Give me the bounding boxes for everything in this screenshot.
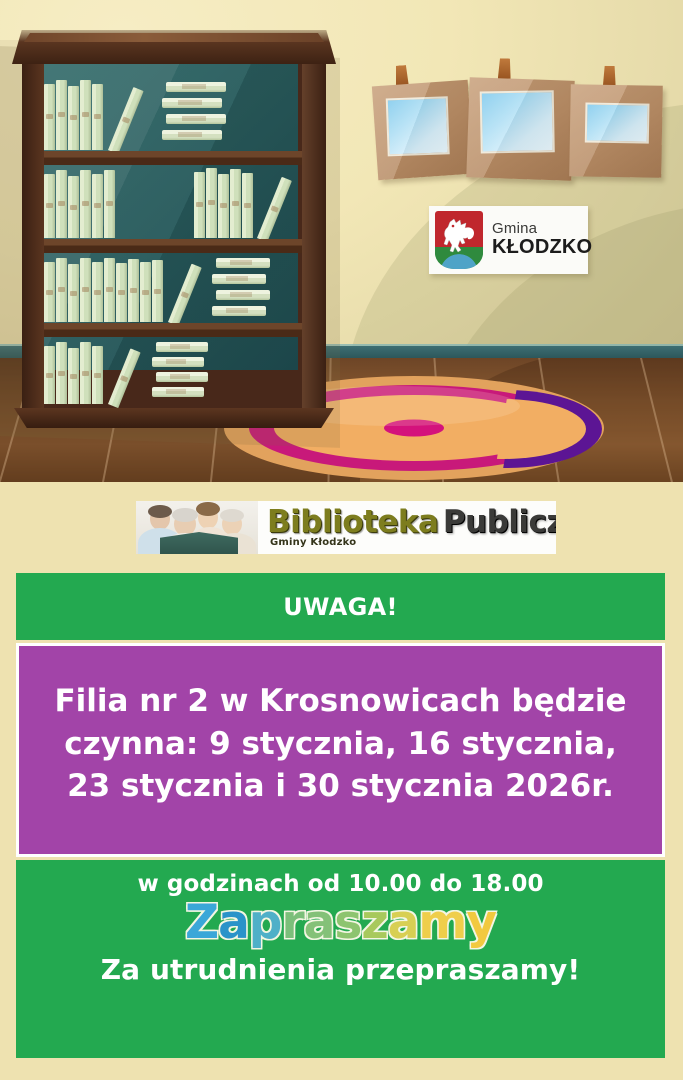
klodzko-label: KŁODZKO	[492, 237, 592, 259]
reader-hair	[220, 509, 244, 522]
book	[56, 80, 67, 150]
notice-heading: UWAGA!	[283, 593, 397, 621]
book	[92, 262, 103, 322]
book-stack	[156, 372, 208, 382]
banner-title-line: Biblioteka Publiczna	[267, 504, 556, 540]
bookcase-crown-highlight	[24, 33, 324, 42]
book	[80, 258, 91, 322]
banner-subtitle: Gminy Kłodzko	[270, 537, 356, 548]
book	[80, 342, 91, 404]
invitation-letter: m	[418, 895, 466, 950]
book	[56, 170, 67, 238]
gmina-klodzko-logo: Gmina KŁODZKO	[429, 206, 588, 274]
notice-area: Biblioteka Publiczna Gminy Kłodzko UWAGA…	[0, 482, 683, 1080]
banner-word-publiczna: Publiczna	[443, 504, 556, 540]
frame-gloss	[466, 77, 574, 181]
book-stack	[166, 114, 226, 124]
book	[44, 346, 55, 404]
klodzko-coat-of-arms	[435, 211, 483, 269]
book	[92, 346, 103, 404]
book-leaning	[108, 348, 141, 408]
bookcase-shelf-row-4	[44, 338, 294, 404]
invitation-letter: p	[249, 895, 282, 950]
frame-gloss	[569, 84, 663, 178]
invitation-letter: r	[281, 895, 303, 950]
book-stack	[212, 274, 266, 284]
book-leaning	[108, 87, 144, 154]
book-stack	[216, 258, 270, 268]
book	[140, 262, 151, 322]
invitation-letter: Z	[185, 895, 218, 950]
apology-text: Za utrudnienia przepraszamy!	[101, 953, 580, 986]
book	[116, 263, 127, 322]
book	[80, 170, 91, 238]
invitation-letter: a	[304, 895, 335, 950]
book	[206, 168, 217, 238]
wall-photo-frame-1	[372, 80, 474, 180]
notice-body-line-1: Filia nr 2 w Krosnowicach będzie	[54, 680, 626, 723]
book	[44, 174, 55, 238]
shelf-highlight	[34, 239, 306, 244]
book-stack	[212, 306, 266, 316]
book	[56, 342, 67, 404]
reader-hair	[196, 502, 220, 516]
bookcase-shelf-row-1	[44, 76, 294, 150]
book-stack	[156, 342, 208, 352]
gmina-label: Gmina	[492, 221, 592, 237]
bookcase-shelf-3	[34, 323, 306, 337]
invitation-word: Zapraszamy	[185, 899, 496, 947]
book	[68, 86, 79, 150]
gmina-text-block: Gmina KŁODZKO	[492, 221, 592, 259]
book	[194, 172, 205, 238]
reader-hair	[148, 505, 172, 518]
book	[80, 80, 91, 150]
reader-hair	[172, 508, 198, 522]
notice-heading-block: UWAGA!	[16, 573, 665, 640]
notice-body-line-3: 23 stycznia i 30 stycznia 2026r.	[67, 765, 614, 808]
bookcase-shelf-1	[34, 151, 306, 165]
bookcase-side-right	[302, 60, 326, 412]
book	[218, 174, 229, 238]
banner-word-biblioteka: Biblioteka	[267, 504, 438, 540]
book	[44, 262, 55, 322]
bookcase-shelf-row-3	[44, 254, 294, 322]
invitation-letter: y	[466, 895, 496, 950]
readers-photo	[136, 501, 258, 554]
book-stack	[162, 130, 222, 140]
notice-body-line-2: czynna: 9 stycznia, 16 stycznia,	[64, 723, 617, 766]
library-banner: Biblioteka Publiczna Gminy Kłodzko	[136, 501, 556, 554]
book	[56, 258, 67, 322]
wall-photo-frame-2	[466, 77, 574, 181]
lion-icon	[441, 216, 477, 260]
poster-root: Gmina KŁODZKO	[0, 0, 683, 1080]
book	[92, 174, 103, 238]
book-stack	[152, 357, 204, 367]
book	[68, 348, 79, 404]
bookcase-side-left	[22, 60, 44, 412]
opening-hours: w godzinach od 10.00 do 18.00	[137, 871, 543, 897]
book	[230, 169, 241, 238]
book	[44, 84, 55, 150]
wall-photo-frame-3	[569, 84, 663, 178]
book	[128, 259, 139, 322]
invitation-letter: s	[334, 895, 361, 950]
frame-gloss	[372, 80, 474, 180]
book-stack	[166, 82, 226, 92]
book-leaning	[257, 177, 292, 242]
invitation-letter: a	[388, 895, 419, 950]
book	[68, 264, 79, 322]
bookcase-shelf-row-2	[44, 166, 294, 238]
book-stack	[216, 290, 270, 300]
invitation-letter: z	[361, 895, 387, 950]
notice-footer-block: w godzinach od 10.00 do 18.00 Zapraszamy…	[16, 860, 665, 1058]
book	[104, 170, 115, 238]
library-room-illustration: Gmina KŁODZKO	[0, 0, 683, 482]
shelf-highlight	[34, 151, 306, 156]
bookcase-plinth	[14, 408, 334, 428]
shelf-highlight	[34, 323, 306, 328]
invitation-letter: a	[218, 895, 249, 950]
bookcase-shelf-2	[34, 239, 306, 253]
book	[104, 258, 115, 322]
book	[242, 173, 253, 238]
book	[92, 84, 103, 150]
book-stack	[152, 387, 204, 397]
book	[68, 176, 79, 238]
wooden-bookcase	[12, 30, 336, 430]
book-leaning	[168, 264, 202, 327]
book-stack	[162, 98, 222, 108]
book	[152, 260, 163, 322]
banner-wordmark: Biblioteka Publiczna Gminy Kłodzko	[258, 501, 556, 554]
notice-body-block: Filia nr 2 w Krosnowicach będzie czynna:…	[16, 643, 665, 857]
